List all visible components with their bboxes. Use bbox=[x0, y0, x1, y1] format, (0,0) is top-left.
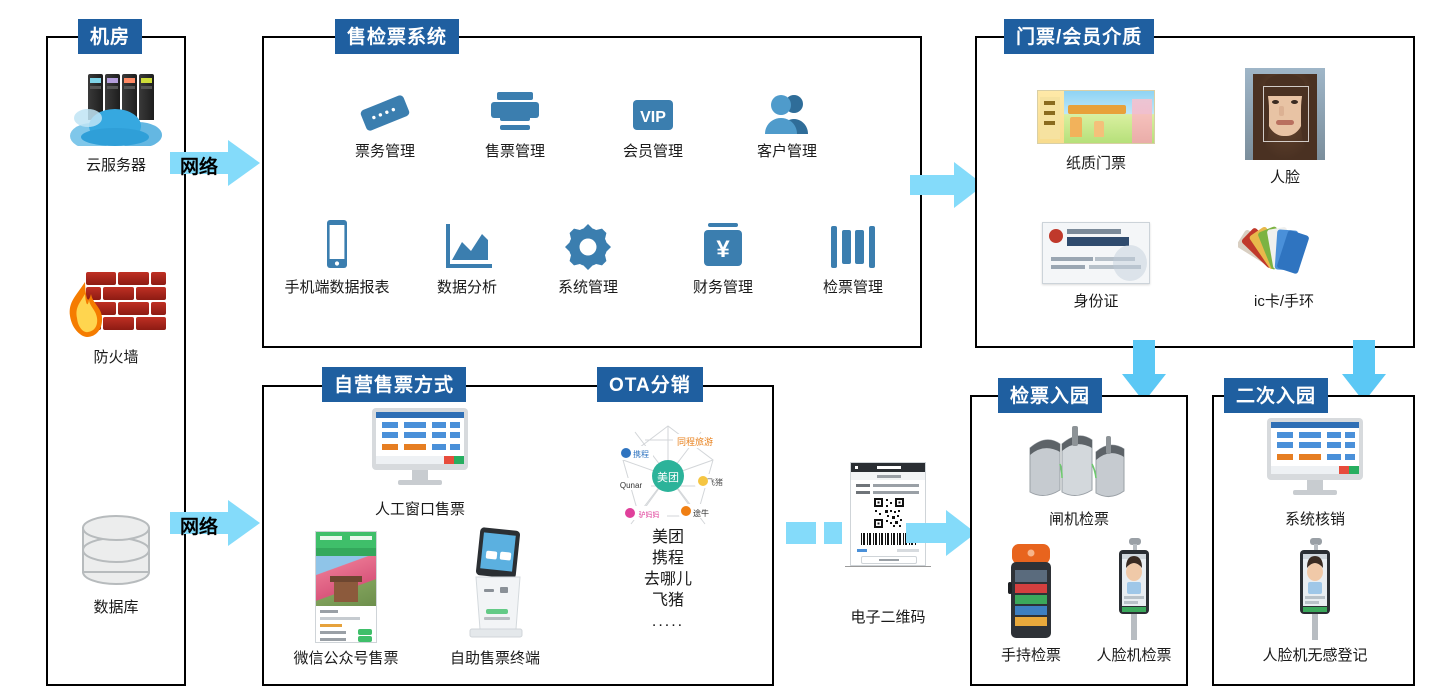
item-finance-mgmt[interactable]: ¥ 财务管理 bbox=[668, 212, 778, 297]
ota-partner-item: ..... bbox=[605, 611, 731, 632]
item-face-check[interactable]: 人脸机检票 bbox=[1082, 538, 1186, 665]
item-sales-mgmt[interactable]: 售票管理 bbox=[460, 80, 570, 161]
item-label: 售票管理 bbox=[485, 144, 545, 161]
item-handheld-check[interactable]: 手持检票 bbox=[985, 538, 1077, 665]
svg-text:携程: 携程 bbox=[633, 449, 649, 459]
section-ticketing-system-title: 售检票系统 bbox=[335, 19, 459, 54]
item-label: 系统核销 bbox=[1285, 512, 1345, 529]
item-customer-mgmt[interactable]: 客户管理 bbox=[732, 80, 842, 161]
item-gate-mgmt[interactable]: 检票管理 bbox=[798, 212, 908, 297]
section-second-entry-title: 二次入园 bbox=[1224, 378, 1328, 413]
firewall-icon bbox=[66, 268, 166, 338]
desktop-monitor-icon bbox=[368, 418, 472, 494]
turnstile-gate-icon bbox=[1014, 424, 1144, 508]
item-ic-card[interactable]: ic卡/手环 bbox=[1228, 218, 1340, 311]
mobile-icon bbox=[317, 212, 357, 274]
item-face-passive-register[interactable]: 人脸机无感登记 bbox=[1245, 538, 1385, 665]
item-id-card[interactable]: 身份证 bbox=[1040, 218, 1152, 311]
item-label: 检票管理 bbox=[823, 280, 883, 297]
item-paper-ticket[interactable]: 纸质门票 bbox=[1035, 84, 1157, 173]
svg-text:途牛: 途牛 bbox=[693, 508, 709, 518]
svg-text:Qunar: Qunar bbox=[620, 481, 643, 490]
item-label: ic卡/手环 bbox=[1254, 294, 1314, 311]
section-ota-title: OTA分销 bbox=[597, 367, 703, 402]
item-label: 微信公众号售票 bbox=[293, 651, 398, 668]
vip-icon: VIP bbox=[625, 80, 681, 138]
svg-text:飞猪: 飞猪 bbox=[707, 477, 723, 487]
face-terminal-icon bbox=[1292, 538, 1338, 642]
item-label: 财务管理 bbox=[693, 280, 753, 297]
yuan-folder-icon: ¥ bbox=[696, 212, 750, 274]
network-label-bottom: 网络 bbox=[180, 512, 218, 539]
paper-ticket-icon bbox=[1037, 84, 1155, 144]
item-member-mgmt[interactable]: VIP 会员管理 bbox=[598, 80, 708, 161]
diagram-canvas: 机房 云服务器 bbox=[0, 0, 1454, 696]
item-label: 票务管理 bbox=[355, 144, 415, 161]
cloud-server-icon bbox=[68, 74, 164, 148]
item-wechat-sales[interactable]: 微信公众号售票 bbox=[280, 525, 412, 668]
item-label: 人脸机无感登记 bbox=[1262, 648, 1367, 665]
item-self-kiosk[interactable]: 自助售票终端 bbox=[432, 523, 558, 668]
item-firewall[interactable]: 防火墙 bbox=[56, 268, 176, 367]
section-entry-check-title: 检票入园 bbox=[998, 378, 1102, 413]
ota-partner-network-icon: 美团 携程 同程旅游 Qunar bbox=[609, 420, 727, 532]
item-label: 系统管理 bbox=[558, 280, 618, 297]
svg-text:驴妈妈: 驴妈妈 bbox=[639, 510, 660, 519]
item-label: 数据库 bbox=[93, 600, 138, 617]
item-label: 云服务器 bbox=[86, 158, 146, 175]
item-gate-check[interactable]: 闸机检票 bbox=[1014, 424, 1144, 529]
section-ticket-media-title: 门票/会员介质 bbox=[1004, 19, 1154, 54]
item-label: 会员管理 bbox=[623, 144, 683, 161]
item-database[interactable]: 数据库 bbox=[56, 510, 176, 617]
item-label: 自助售票终端 bbox=[450, 651, 540, 668]
ic-card-icon bbox=[1238, 218, 1330, 284]
printer-icon bbox=[486, 80, 544, 138]
section-server-room-title: 机房 bbox=[78, 19, 142, 54]
arrow-sales-to-qr-segment-1 bbox=[786, 522, 816, 544]
item-label: 手持检票 bbox=[1001, 648, 1061, 665]
item-data-analysis[interactable]: 数据分析 bbox=[412, 212, 522, 297]
section-self-sales-title: 自营售票方式 bbox=[322, 367, 466, 402]
ota-partner-item: 去哪儿 bbox=[605, 569, 731, 590]
item-ticket-mgmt[interactable]: 票务管理 bbox=[330, 80, 440, 161]
chart-icon bbox=[438, 212, 496, 274]
item-mobile-report[interactable]: 手机端数据报表 bbox=[272, 212, 402, 297]
arrow-media-to-second-entry bbox=[1342, 340, 1386, 402]
network-label-top: 网络 bbox=[180, 152, 218, 179]
item-label: 人脸 bbox=[1270, 170, 1300, 187]
item-face[interactable]: 人脸 bbox=[1230, 64, 1340, 187]
face-terminal-icon bbox=[1111, 538, 1157, 642]
turnstile-icon bbox=[825, 212, 881, 274]
ota-partner-list: 美团 携程 去哪儿 飞猪 ..... bbox=[605, 527, 731, 633]
face-photo-icon bbox=[1245, 64, 1325, 160]
arrow-media-to-entry bbox=[1122, 340, 1166, 402]
item-cloud-server[interactable]: 云服务器 bbox=[56, 74, 176, 175]
gear-icon bbox=[561, 212, 615, 274]
item-label: 数据分析 bbox=[437, 280, 497, 297]
wechat-app-icon bbox=[315, 525, 377, 643]
self-service-kiosk-icon bbox=[464, 523, 526, 643]
item-label: 闸机检票 bbox=[1049, 512, 1109, 529]
desktop-monitor-icon bbox=[1263, 424, 1367, 504]
handheld-pos-icon bbox=[1005, 538, 1057, 642]
svg-text:¥: ¥ bbox=[716, 236, 730, 263]
svg-text:VIP: VIP bbox=[640, 109, 666, 126]
svg-text:同程旅游: 同程旅游 bbox=[677, 436, 713, 447]
item-label: 客户管理 bbox=[757, 144, 817, 161]
item-label: 纸质门票 bbox=[1066, 156, 1126, 173]
database-icon bbox=[70, 510, 162, 590]
item-counter-sales[interactable]: 人工窗口售票 bbox=[360, 418, 480, 519]
item-label: 电子二维码 bbox=[850, 610, 925, 627]
item-label: 身份证 bbox=[1073, 294, 1118, 311]
ota-partner-item: 美团 bbox=[605, 527, 731, 548]
item-label: 人工窗口售票 bbox=[375, 502, 465, 519]
item-label: 防火墙 bbox=[93, 350, 138, 367]
id-card-icon bbox=[1042, 218, 1150, 284]
qr-label-divider bbox=[845, 566, 931, 567]
users-icon bbox=[758, 80, 816, 138]
ota-partner-item: 携程 bbox=[605, 548, 731, 569]
ticket-icon bbox=[356, 80, 414, 138]
item-label: 人脸机检票 bbox=[1096, 648, 1171, 665]
svg-text:美团: 美团 bbox=[657, 471, 679, 484]
item-system-mgmt[interactable]: 系统管理 bbox=[533, 212, 643, 297]
item-label: 手机端数据报表 bbox=[284, 280, 389, 297]
item-system-verify[interactable]: 系统核销 bbox=[1260, 424, 1370, 529]
ota-partner-item: 飞猪 bbox=[605, 590, 731, 611]
item-ota-network[interactable]: 美团 携程 同程旅游 Qunar bbox=[605, 420, 731, 532]
